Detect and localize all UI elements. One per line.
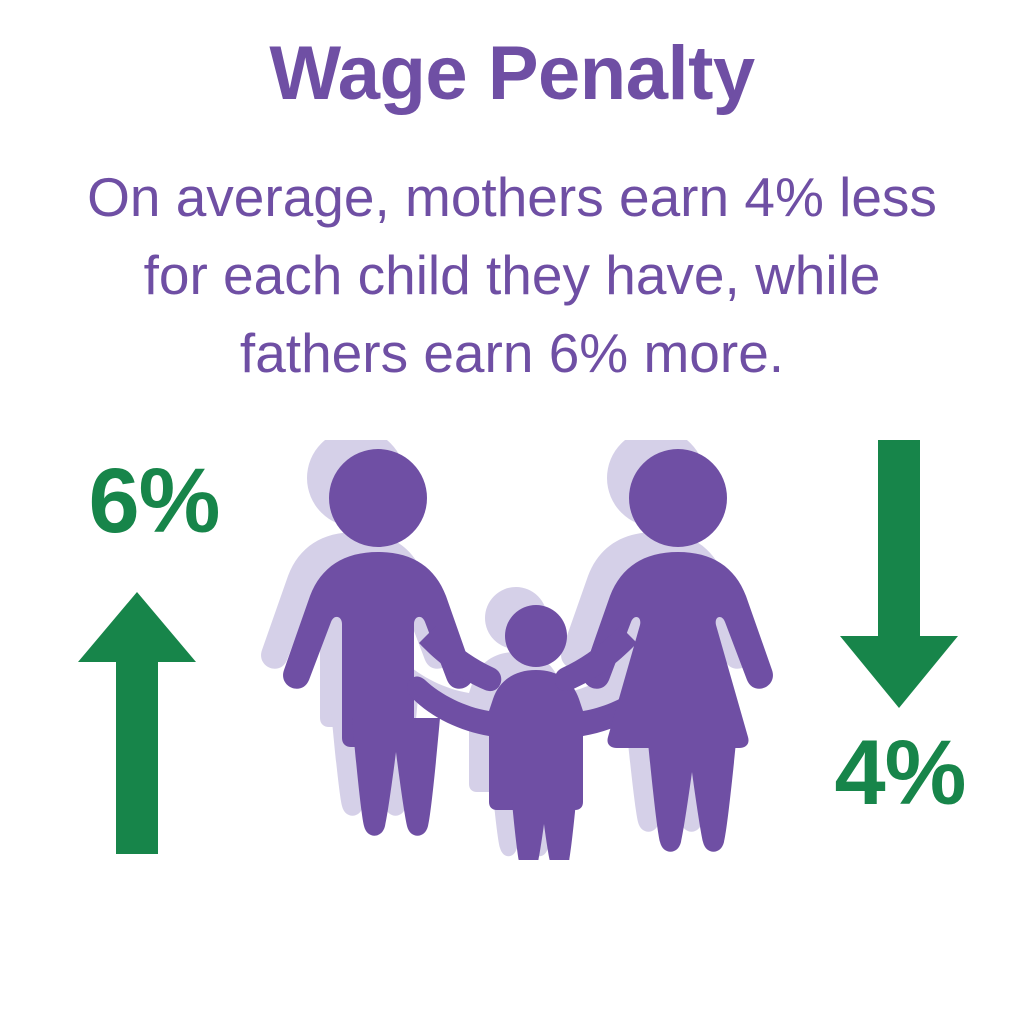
wage-penalty-infographic: Wage Penalty On average, mothers earn 4%… bbox=[0, 0, 1024, 1024]
father-figure bbox=[283, 449, 501, 836]
arrow-down-icon bbox=[840, 440, 958, 708]
summary-line-2: for each child they have, while bbox=[50, 236, 974, 314]
summary-line-3: fathers earn 6% more. bbox=[50, 314, 974, 392]
summary-statement: On average, mothers earn 4% less for eac… bbox=[50, 158, 974, 392]
child-head bbox=[505, 605, 567, 667]
stat-value-mothers: 4% bbox=[790, 727, 1010, 819]
summary-line-1: On average, mothers earn 4% less bbox=[50, 158, 974, 236]
stat-value-fathers: 6% bbox=[44, 455, 264, 547]
mother-head bbox=[629, 449, 727, 547]
father-head bbox=[329, 449, 427, 547]
page-title: Wage Penalty bbox=[0, 34, 1024, 114]
family-group-icon bbox=[248, 440, 808, 860]
arrow-up-icon bbox=[78, 592, 196, 854]
